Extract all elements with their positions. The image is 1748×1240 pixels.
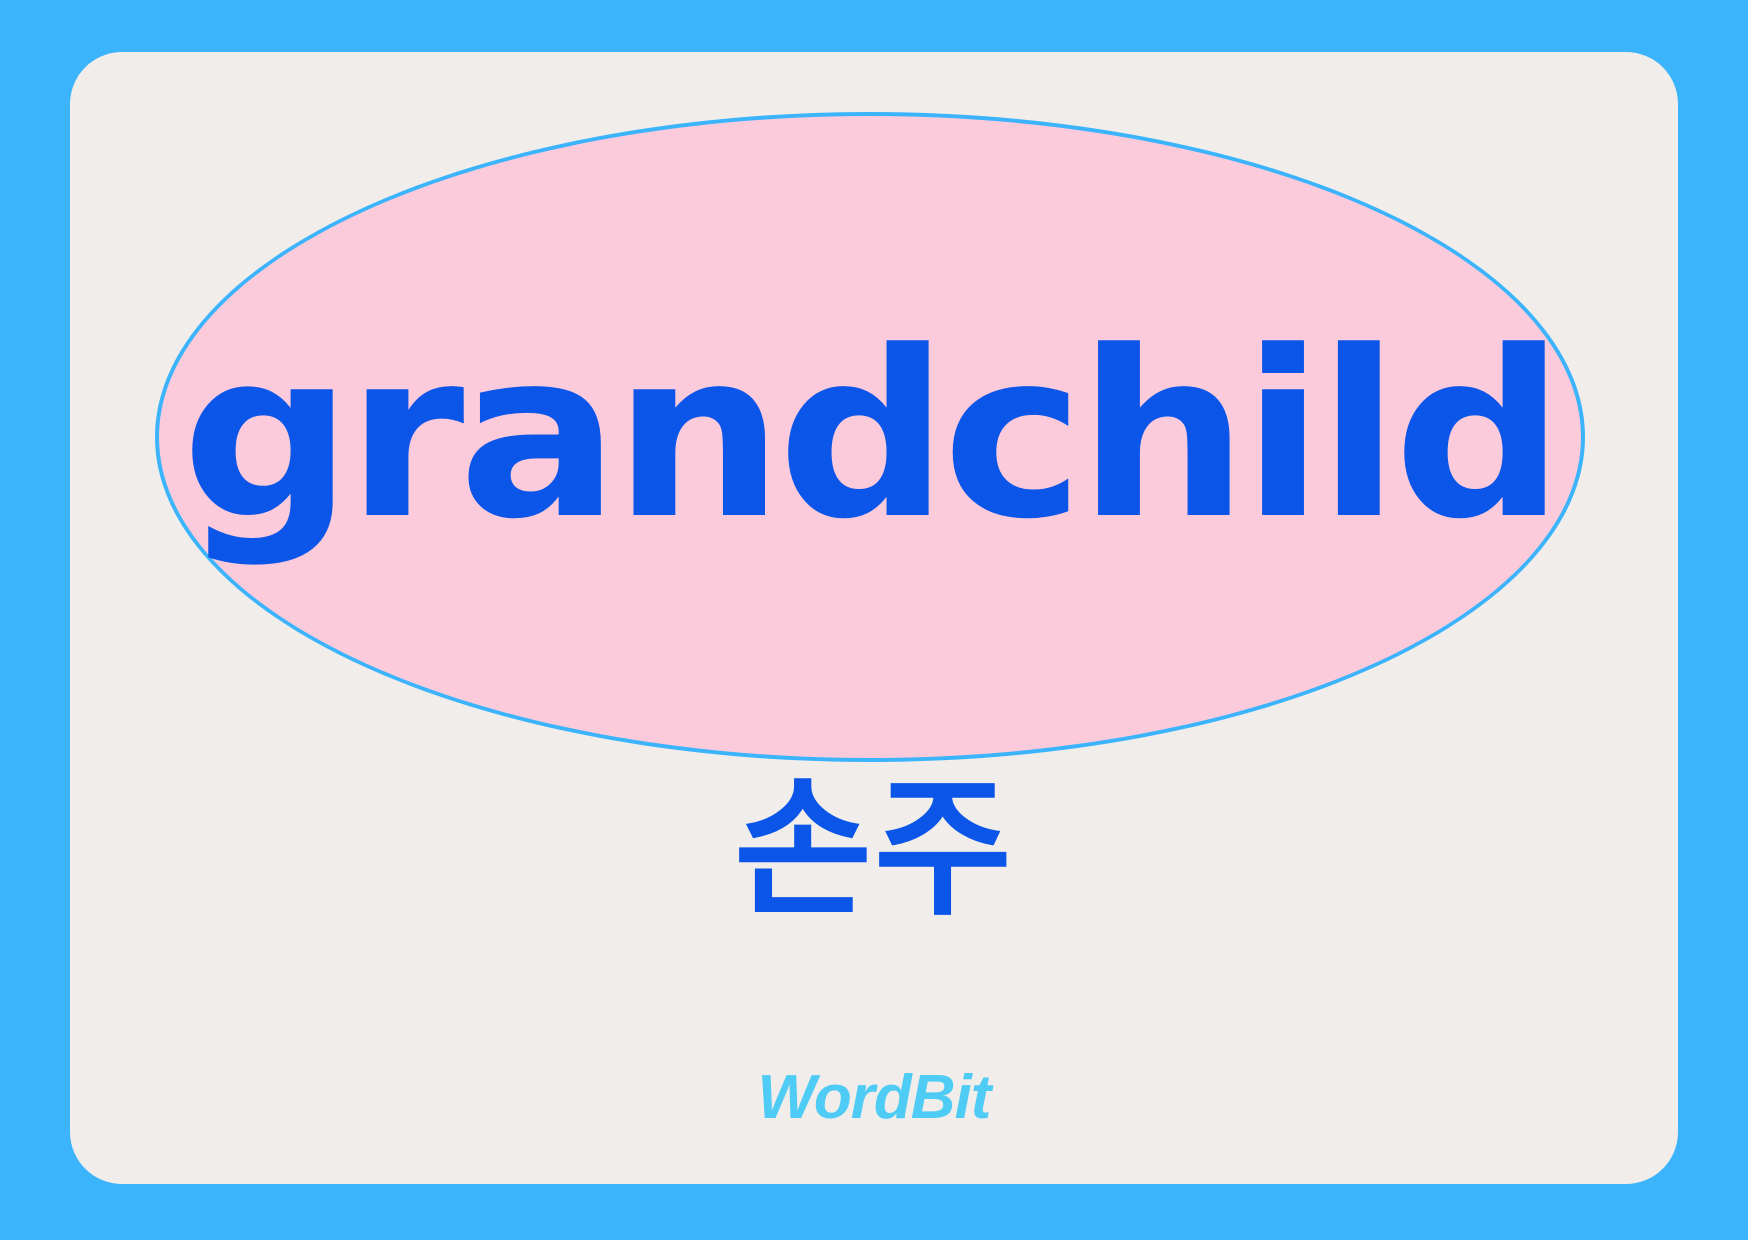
flashcard-card[interactable]: grandchild 손주 WordBit <box>70 52 1678 1184</box>
vocabulary-flashcard-screen: grandchild 손주 WordBit <box>0 0 1748 1240</box>
translation-text: 손주 <box>70 764 1678 937</box>
word-bubble-ellipse: grandchild <box>155 112 1585 762</box>
primary-word-text: grandchild <box>181 328 1558 547</box>
wordbit-brand-logo: WordBit <box>70 1062 1678 1133</box>
